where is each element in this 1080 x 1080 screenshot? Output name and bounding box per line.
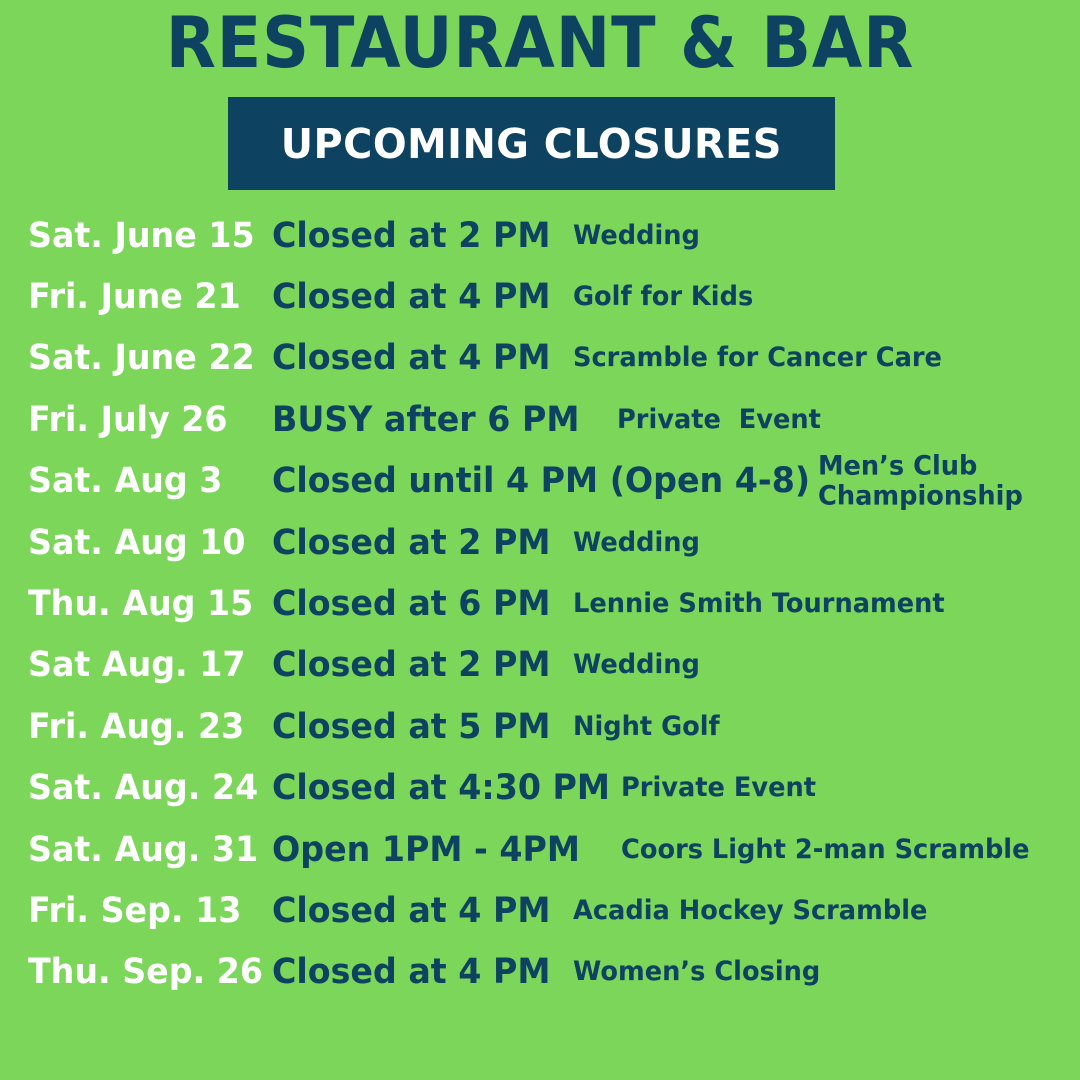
closures-poster: RESTAURANT & BAR UPCOMING CLOSURES Sat. … — [0, 0, 1080, 1080]
closure-event: Coors Light 2-man Scramble — [621, 835, 1030, 865]
closure-event: Golf for Kids — [573, 282, 753, 312]
subtitle-banner: UPCOMING CLOSURES — [228, 97, 835, 190]
closure-status: Closed at 4:30 PM — [272, 768, 610, 808]
closure-row: Fri. Sep. 13Closed at 4 PMAcadia Hockey … — [0, 880, 1080, 941]
closure-row: Sat. Aug. 24Closed at 4:30 PMPrivate Eve… — [0, 758, 1080, 819]
closure-row: Sat. Aug 3Closed until 4 PM (Open 4-8)Me… — [0, 451, 1080, 512]
closure-status: Closed at 4 PM — [272, 952, 550, 992]
closure-row: Sat. Aug. 31Open 1PM - 4PMCoors Light 2-… — [0, 819, 1080, 880]
closure-date: Fri. Aug. 23 — [28, 707, 244, 747]
closure-status: Open 1PM - 4PM — [272, 830, 580, 870]
closure-status: BUSY after 6 PM — [272, 400, 579, 440]
closure-row: Fri. July 26BUSY after 6 PMPrivate Event — [0, 389, 1080, 450]
closure-row: Thu. Aug 15Closed at 6 PMLennie Smith To… — [0, 573, 1080, 634]
closure-date: Fri. July 26 — [28, 400, 228, 440]
page-title: RESTAURANT & BAR — [38, 8, 1042, 78]
closure-status: Closed at 2 PM — [272, 645, 550, 685]
closure-event: Wedding — [573, 528, 700, 558]
closure-event: Women’s Closing — [573, 958, 820, 988]
closure-row: Sat. June 15Closed at 2 PMWedding — [0, 205, 1080, 266]
closure-event: Wedding — [573, 221, 700, 251]
closure-date: Sat. June 15 — [28, 216, 255, 256]
closure-row: Fri. Aug. 23Closed at 5 PMNight Golf — [0, 696, 1080, 757]
closure-row: Thu. Sep. 26Closed at 4 PMWomen’s Closin… — [0, 942, 1080, 1003]
closure-date: Sat. Aug. 24 — [28, 768, 258, 808]
closure-status: Closed at 4 PM — [272, 891, 550, 931]
subtitle-banner-label: UPCOMING CLOSURES — [281, 120, 782, 168]
closure-date: Sat. June 22 — [28, 338, 255, 378]
closure-row: Sat. June 22Closed at 4 PMScramble for C… — [0, 328, 1080, 389]
closure-status: Closed at 6 PM — [272, 584, 550, 624]
closure-date: Sat. Aug 3 — [28, 461, 222, 501]
closure-date: Fri. Sep. 13 — [28, 891, 241, 931]
closure-row: Fri. June 21Closed at 4 PMGolf for Kids — [0, 266, 1080, 327]
closure-row: Sat Aug. 17Closed at 2 PMWedding — [0, 635, 1080, 696]
closure-date: Fri. June 21 — [28, 277, 241, 317]
closure-event: Wedding — [573, 651, 700, 681]
closure-event: Men’s Club Championship — [818, 452, 1023, 511]
closure-date: Sat. Aug. 31 — [28, 830, 258, 870]
closures-list: Sat. June 15Closed at 2 PMWeddingFri. Ju… — [0, 205, 1080, 1003]
closure-event: Private Event — [621, 773, 816, 803]
closure-event: Scramble for Cancer Care — [573, 344, 942, 374]
closure-status: Closed until 4 PM (Open 4-8) — [272, 461, 810, 501]
closure-status: Closed at 5 PM — [272, 707, 550, 747]
closure-date: Thu. Aug 15 — [28, 584, 253, 624]
closure-status: Closed at 4 PM — [272, 277, 550, 317]
closure-status: Closed at 2 PM — [272, 523, 550, 563]
closure-event: Night Golf — [573, 712, 720, 742]
closure-status: Closed at 2 PM — [272, 216, 550, 256]
closure-date: Sat. Aug 10 — [28, 523, 246, 563]
closure-date: Sat Aug. 17 — [28, 645, 246, 685]
closure-row: Sat. Aug 10Closed at 2 PMWedding — [0, 512, 1080, 573]
closure-date: Thu. Sep. 26 — [28, 952, 263, 992]
closure-event: Lennie Smith Tournament — [573, 589, 945, 619]
closure-status: Closed at 4 PM — [272, 338, 550, 378]
closure-event: Private Event — [617, 405, 821, 435]
closure-event: Acadia Hockey Scramble — [573, 896, 927, 926]
